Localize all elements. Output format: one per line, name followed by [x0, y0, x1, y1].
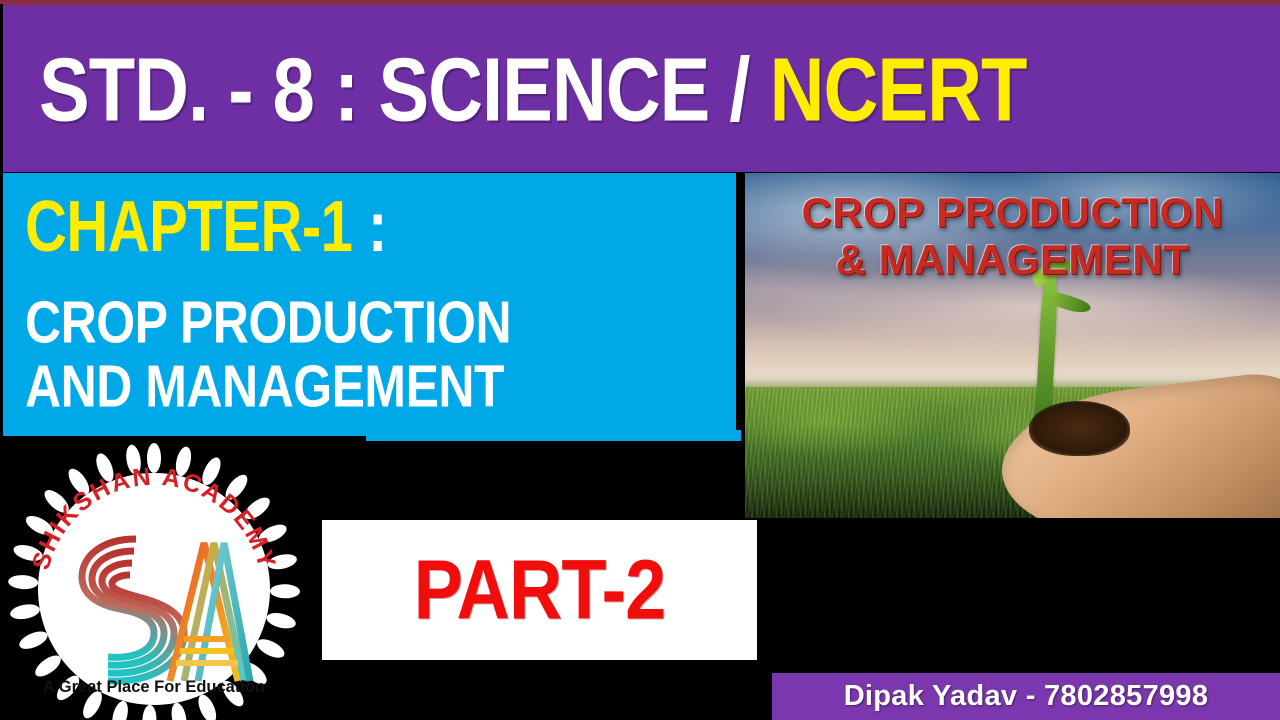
- header-banner: STD. - 8 : SCIENCE / NCERT: [3, 4, 1280, 172]
- part-card: PART-2: [322, 520, 757, 660]
- chapter-subtitle-line-2: AND MANAGEMENT: [25, 357, 504, 416]
- cover-photo: CROP PRODUCTION & MANAGEMENT: [745, 173, 1280, 518]
- presenter-banner: Dipak Yadav - 7802857998: [772, 673, 1280, 720]
- page-title: STD. - 8 : SCIENCE / NCERT: [3, 46, 1026, 136]
- chapter-subtitle-line-1: CROP PRODUCTION: [25, 293, 511, 352]
- part-label: PART-2: [414, 548, 666, 632]
- photo-sky-layer: [745, 173, 1280, 390]
- chapter-colon: :: [352, 186, 386, 267]
- slide-canvas: STD. - 8 : SCIENCE / NCERT CHAPTER-1 : C…: [0, 0, 1280, 720]
- page-title-main: STD. - 8 : SCIENCE /: [39, 40, 770, 140]
- chapter-box: CHAPTER-1 : CROP PRODUCTION AND MANAGEME…: [3, 173, 736, 436]
- chapter-heading: CHAPTER-1 :: [25, 191, 387, 264]
- chapter-box-extension: [366, 430, 741, 441]
- page-title-highlight: NCERT: [770, 40, 1027, 140]
- logo-tagline: A Great Place For Education: [43, 678, 265, 696]
- chapter-number-label: CHAPTER-1: [25, 186, 352, 267]
- academy-logo: SHIKSHAN ACADEMY A Great Place For Educa…: [8, 443, 300, 720]
- presenter-name: Dipak Yadav - 7802857998: [844, 680, 1209, 713]
- soil-clump-icon: [1029, 401, 1131, 456]
